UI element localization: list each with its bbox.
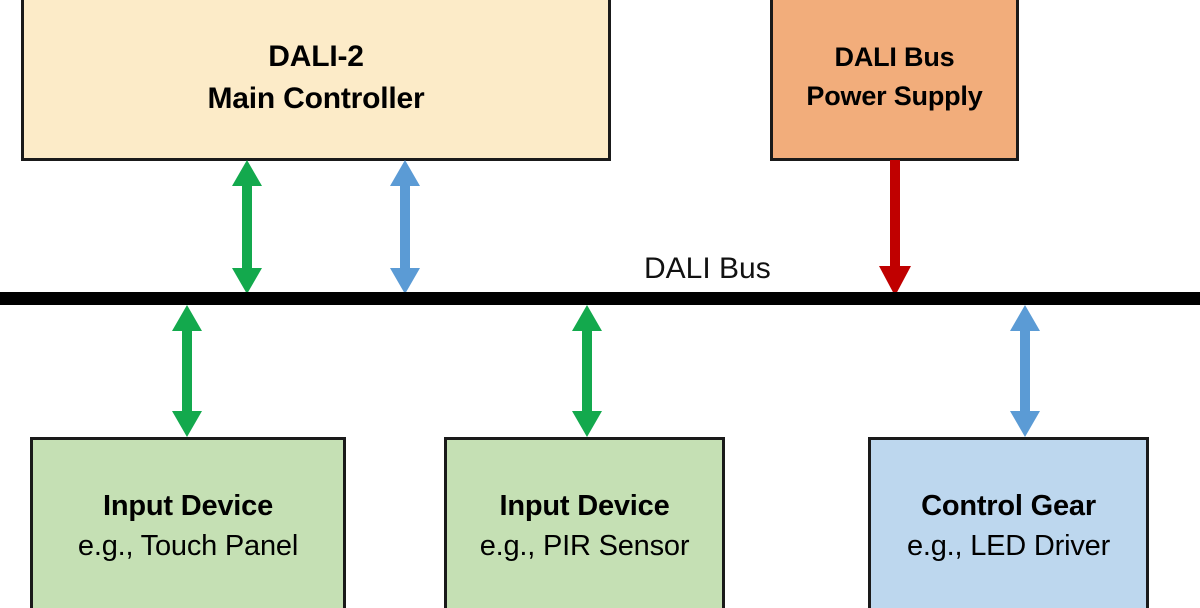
control-gear-title: Control Gear: [921, 489, 1096, 523]
connector-bus-to-control-gear-blue: [1009, 305, 1041, 437]
control-gear-subtitle: e.g., LED Driver: [907, 529, 1110, 563]
node-input-device-pir-sensor[interactable]: Input Device e.g., PIR Sensor: [444, 437, 725, 608]
input-device-touch-title: Input Device: [103, 489, 273, 523]
input-device-pir-title: Input Device: [499, 489, 669, 523]
diagram-canvas: DALI-2 Main Controller DALI Bus Power Su…: [0, 0, 1200, 608]
connector-controller-to-bus-blue: [389, 160, 421, 294]
connector-controller-to-bus-green: [231, 160, 263, 294]
main-controller-line2: Main Controller: [207, 81, 424, 116]
node-bus-power-supply[interactable]: DALI Bus Power Supply: [770, 0, 1019, 161]
connector-bus-to-pir-sensor-green: [571, 305, 603, 437]
input-device-touch-subtitle: e.g., Touch Panel: [78, 529, 298, 563]
dali-bus-label: DALI Bus: [644, 252, 771, 286]
input-device-pir-subtitle: e.g., PIR Sensor: [480, 529, 690, 563]
node-control-gear[interactable]: Control Gear e.g., LED Driver: [868, 437, 1149, 608]
connector-bus-to-touch-panel-green: [171, 305, 203, 437]
bus-power-supply-line2: Power Supply: [806, 81, 982, 113]
dali-bus-line: [0, 292, 1200, 305]
main-controller-line1: DALI-2: [268, 39, 363, 74]
node-main-controller[interactable]: DALI-2 Main Controller: [21, 0, 611, 161]
connector-power-supply-to-bus-red: [878, 160, 912, 296]
bus-power-supply-line1: DALI Bus: [835, 42, 955, 74]
node-input-device-touch-panel[interactable]: Input Device e.g., Touch Panel: [30, 437, 346, 608]
